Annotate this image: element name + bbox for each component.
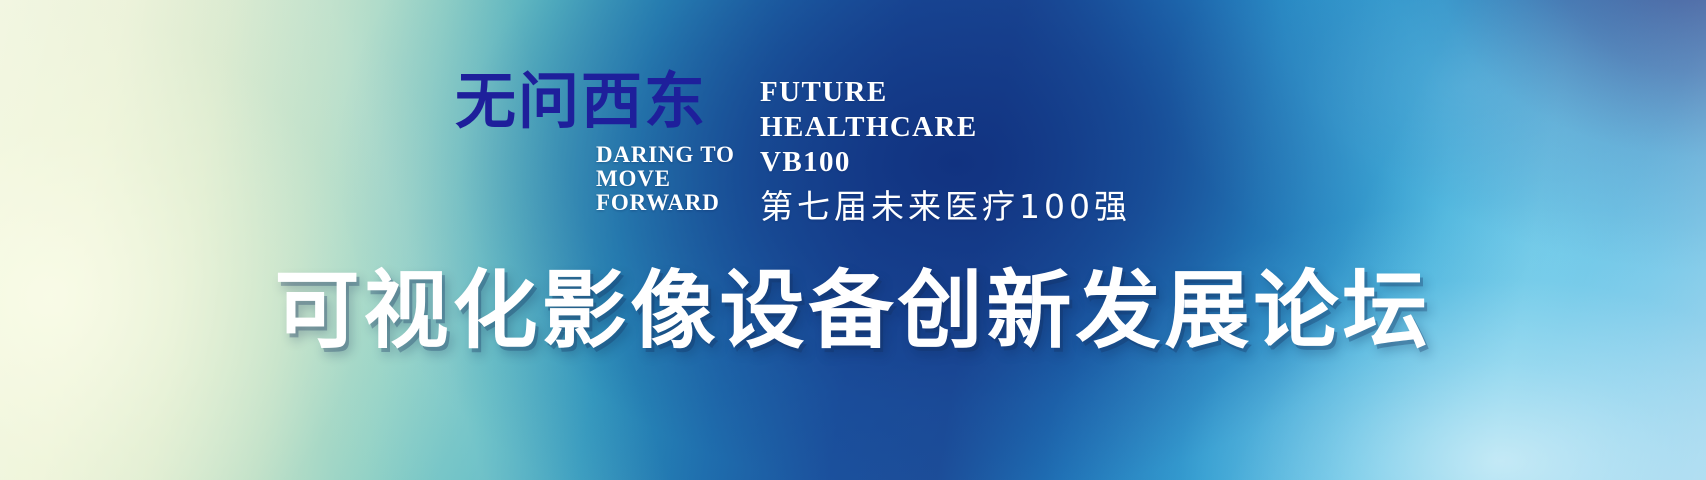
brand-english-name: FUTURE HEALTHCARE VB100 (760, 75, 1180, 180)
brand-chinese-subtitle: 第七届未来医疗100强 (760, 187, 1180, 227)
logo-tagline-line-3: FORWARD (596, 191, 735, 215)
logo-tagline-line-2: MOVE (596, 167, 735, 191)
brand-line-future: FUTURE (760, 75, 1180, 110)
brand-line-healthcare: HEALTHCARE (760, 110, 1180, 145)
logo-tagline-line-1: DARING TO (596, 143, 735, 167)
event-brand-block: FUTURE HEALTHCARE VB100 第七届未来医疗100强 (760, 75, 1180, 227)
logo-tagline: DARING TO MOVE FORWARD (596, 143, 735, 215)
event-banner: 无问西东 DARING TO MOVE FORWARD FUTURE HEALT… (0, 0, 1706, 480)
forum-main-title: 可视化影像设备创新发展论坛 (0, 262, 1706, 362)
logo-chinese-mark: 无问西东 (455, 72, 740, 133)
banner-content: 无问西东 DARING TO MOVE FORWARD FUTURE HEALT… (0, 0, 1706, 480)
brand-line-vb100: VB100 (760, 145, 1180, 180)
brand-logo-lockup: 无问西东 DARING TO MOVE FORWARD (455, 72, 740, 232)
